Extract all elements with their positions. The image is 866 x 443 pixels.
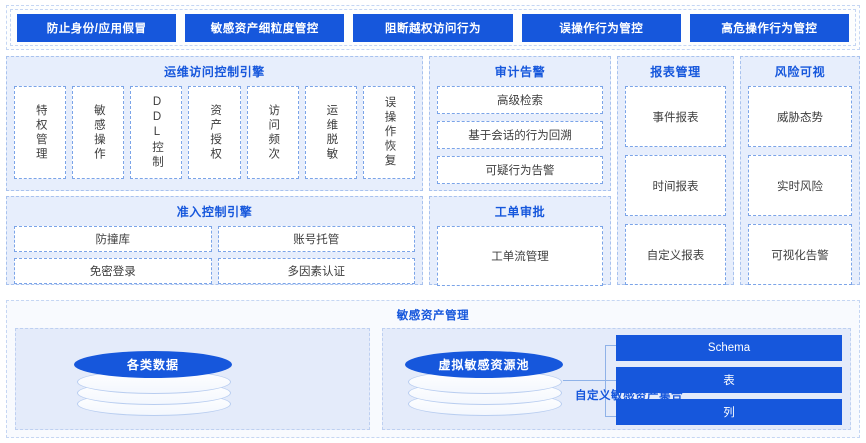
banner-item-0[interactable]: 防止身份/应用假冒 [17,14,176,42]
banner-item-3[interactable]: 误操作行为管控 [522,14,681,42]
panel-work-order-approval: 工单审批 工单流管理 [429,196,611,285]
panel-risk-card-stack: 威胁态势 实时风险 可视化告警 [748,86,852,285]
panel-report-card-stack: 事件报表 时间报表 自定义报表 [625,86,726,285]
panel-risk-visibility: 风险可视 威胁态势 实时风险 可视化告警 [740,56,860,285]
card-label: 访问频次 [266,104,279,162]
card-label: 免密登录 [90,263,136,279]
cylinder-virtual-sensitive-pool[interactable]: 虚拟敏感资源池 [405,351,563,415]
banner-item-label: 敏感资产细粒度管控 [211,20,319,36]
banner-item-label: 防止身份/应用假冒 [47,20,147,36]
panel-admission-card-grid: 防撞库 账号托管 免密登录 多因素认证 [14,226,415,284]
data-source-subpanel: 各类数据 [15,328,370,430]
card-time-report[interactable]: 时间报表 [625,155,726,216]
tag-table[interactable]: 表 [616,367,842,393]
card-threat-posture[interactable]: 威胁态势 [748,86,852,147]
card-label: 可视化告警 [771,247,829,263]
card-label: 自定义报表 [647,247,705,263]
banner-item-1[interactable]: 敏感资产细粒度管控 [185,14,344,42]
card-label: 特权管理 [33,104,46,162]
card-label: 基于会话的行为回溯 [468,127,572,143]
card-label: 时间报表 [653,178,699,194]
card-mfa[interactable]: 多因素认证 [218,258,416,284]
panel-report-management: 报表管理 事件报表 时间报表 自定义报表 [617,56,734,285]
banner-item-4[interactable]: 高危操作行为管控 [690,14,849,42]
capability-banner: 防止身份/应用假冒 敏感资产细粒度管控 阻断越权访问行为 误操作行为管控 高危操… [6,5,860,50]
bottom-section-title: 敏感资产管理 [15,307,851,323]
card-label: 实时风险 [777,178,823,194]
card-label: 威胁态势 [777,109,823,125]
panel-workorder-card-stack: 工单流管理 [437,226,603,286]
banner-item-label: 阻断越权访问行为 [385,20,481,36]
card-label: 事件报表 [653,109,699,125]
card-label: 敏感操作 [92,104,105,162]
card-advanced-search[interactable]: 高级检索 [437,86,603,114]
tag-label: Schema [708,342,750,354]
panel-title-workorder: 工单审批 [437,203,603,220]
card-account-custody[interactable]: 账号托管 [218,226,416,252]
architecture-diagram-page: 防止身份/应用假冒 敏感资产细粒度管控 阻断越权访问行为 误操作行为管控 高危操… [0,0,866,443]
capability-banner-inner: 防止身份/应用假冒 敏感资产细粒度管控 阻断越权访问行为 误操作行为管控 高危操… [10,9,856,46]
card-label: DDL控制 [150,96,163,170]
cylinder-cap-label: 虚拟敏感资源池 [405,351,563,378]
panel-title-admission: 准入控制引擎 [14,203,415,220]
panel-ops-access-control: 运维访问控制引擎 特权管理 敏感操作 DDL控制 资产授权 访问频次 运维脱敏 … [6,56,423,191]
panel-title-audit: 审计告警 [437,63,603,80]
card-label: 工单流管理 [491,248,549,264]
card-event-report[interactable]: 事件报表 [625,86,726,147]
sensitive-asset-management-section: 敏感资产管理 各类数据 虚拟敏感资源池 [6,300,860,438]
card-access-frequency[interactable]: 访问频次 [247,86,299,179]
card-anti-credential-stuffing[interactable]: 防撞库 [14,226,212,252]
card-custom-report[interactable]: 自定义报表 [625,224,726,285]
panel-ops-card-row: 特权管理 敏感操作 DDL控制 资产授权 访问频次 运维脱敏 误操作恢复 [14,86,415,179]
cylinder-cap-label: 各类数据 [74,351,232,378]
cylinder-all-data[interactable]: 各类数据 [74,351,232,415]
bottom-section-row: 各类数据 虚拟敏感资源池 自定义敏感资产集合 [15,328,851,430]
card-sensitive-operation[interactable]: 敏感操作 [72,86,124,179]
asset-granularity-tag-list: Schema 表 列 [616,335,842,425]
card-visual-alert[interactable]: 可视化告警 [748,224,852,285]
card-session-behavior-replay[interactable]: 基于会话的行为回溯 [437,121,603,149]
panel-title-risk: 风险可视 [748,63,852,80]
card-label: 资产授权 [208,104,221,162]
tag-label: 列 [723,404,735,420]
card-misoperation-recovery[interactable]: 误操作恢复 [363,86,415,179]
tag-column[interactable]: 列 [616,399,842,425]
banner-item-2[interactable]: 阻断越权访问行为 [353,14,512,42]
card-label: 高级检索 [497,92,543,108]
card-label: 防撞库 [96,231,131,247]
card-ops-masking[interactable]: 运维脱敏 [305,86,357,179]
virtual-sensitive-pool-subpanel: 虚拟敏感资源池 自定义敏感资产集合 Schema 表 列 [382,328,851,430]
tag-label: 表 [723,372,735,388]
panel-title-report: 报表管理 [625,63,726,80]
panel-admission-control: 准入控制引擎 防撞库 账号托管 免密登录 多因素认证 [6,196,423,285]
card-ddl-control[interactable]: DDL控制 [130,86,182,179]
panel-title-ops: 运维访问控制引擎 [14,63,415,80]
tag-schema[interactable]: Schema [616,335,842,361]
capability-panels: 运维访问控制引擎 特权管理 敏感操作 DDL控制 资产授权 访问频次 运维脱敏 … [6,56,860,296]
card-label: 误操作恢复 [382,96,395,169]
card-label: 多因素认证 [288,263,346,279]
card-label: 运维脱敏 [324,104,337,162]
card-work-order-flow-management[interactable]: 工单流管理 [437,226,603,286]
card-suspicious-behavior-alert[interactable]: 可疑行为告警 [437,156,603,184]
card-passwordless-login[interactable]: 免密登录 [14,258,212,284]
panel-audit-alert: 审计告警 高级检索 基于会话的行为回溯 可疑行为告警 [429,56,611,191]
card-asset-authorization[interactable]: 资产授权 [188,86,240,179]
card-label: 账号托管 [293,231,339,247]
card-label: 可疑行为告警 [486,162,555,178]
banner-item-label: 高危操作行为管控 [721,20,817,36]
card-realtime-risk[interactable]: 实时风险 [748,155,852,216]
card-privilege-management[interactable]: 特权管理 [14,86,66,179]
panel-audit-card-stack: 高级检索 基于会话的行为回溯 可疑行为告警 [437,86,603,184]
banner-item-label: 误操作行为管控 [559,20,643,36]
